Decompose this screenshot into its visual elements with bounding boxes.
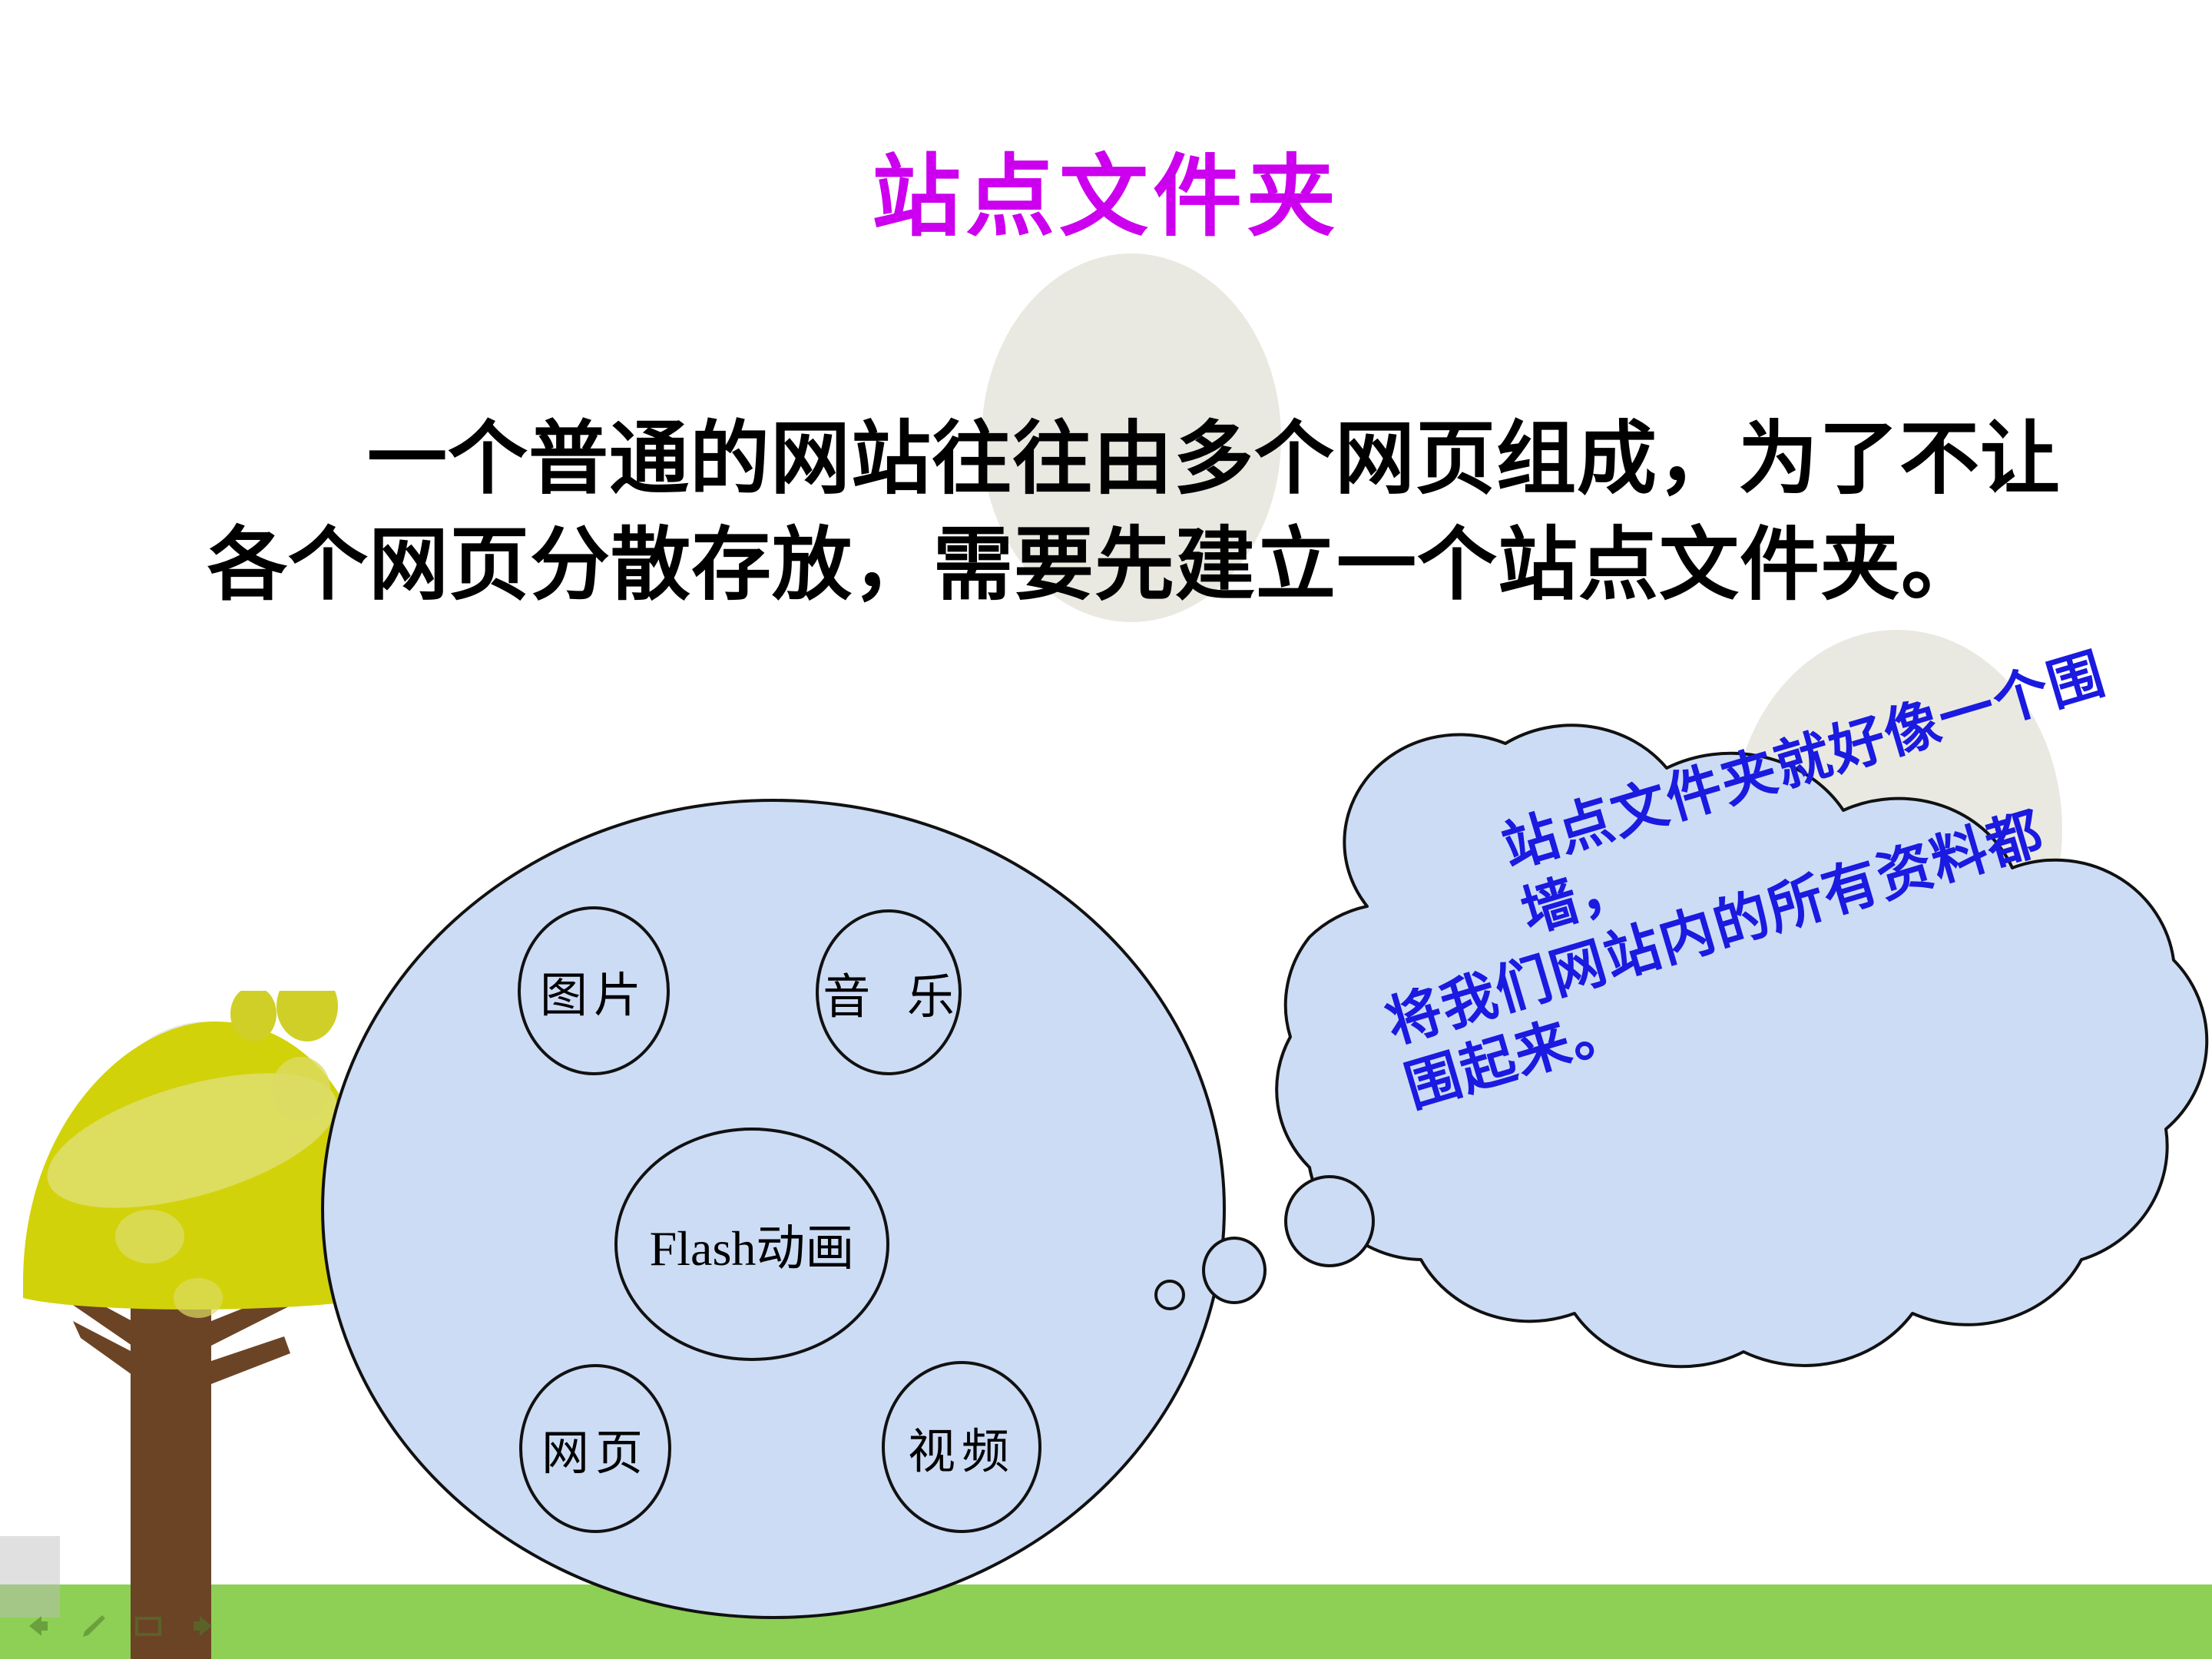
folder-item-pictures[interactable]: 图片 [518,906,670,1075]
thought-bubble-cloud [1175,676,2212,1406]
folder-item-label: 音 乐 [810,958,967,1027]
pen-icon[interactable] [77,1610,109,1642]
previous-slide-arrow-icon[interactable] [22,1610,54,1642]
folder-item-flash-animation[interactable]: Flash动画 [614,1128,889,1361]
slide-title: 站点文件夹 [0,150,2212,248]
next-slide-arrow-icon[interactable] [187,1610,220,1642]
folder-item-music[interactable]: 音 乐 [816,909,962,1075]
folder-item-video[interactable]: 视频 [882,1361,1041,1533]
folder-item-webpages[interactable]: 网页 [519,1364,671,1533]
folder-item-label: Flash动画 [650,1209,855,1280]
slideshow-corner-overlay [0,1536,60,1618]
presenter-toolbar[interactable] [22,1610,220,1642]
slide-menu-icon[interactable] [132,1610,164,1642]
slide-body-text: 一个普通的网站往往由多个网页组成，为了不让各个网页分散存放，需要先建立一个站点文… [207,407,2066,620]
folder-item-label: 图片 [540,956,647,1025]
presentation-slide: 站点文件夹 一个普通的网站往往由多个网页组成，为了不让各个网页分散存放，需要先建… [0,0,2212,1659]
folder-item-label: 视频 [908,1412,1015,1482]
thought-trail-bubble-medium [1202,1237,1267,1304]
thought-trail-bubble-small [1154,1280,1185,1310]
folder-item-label: 网页 [541,1414,649,1483]
thought-trail-bubble-large [1284,1175,1375,1267]
